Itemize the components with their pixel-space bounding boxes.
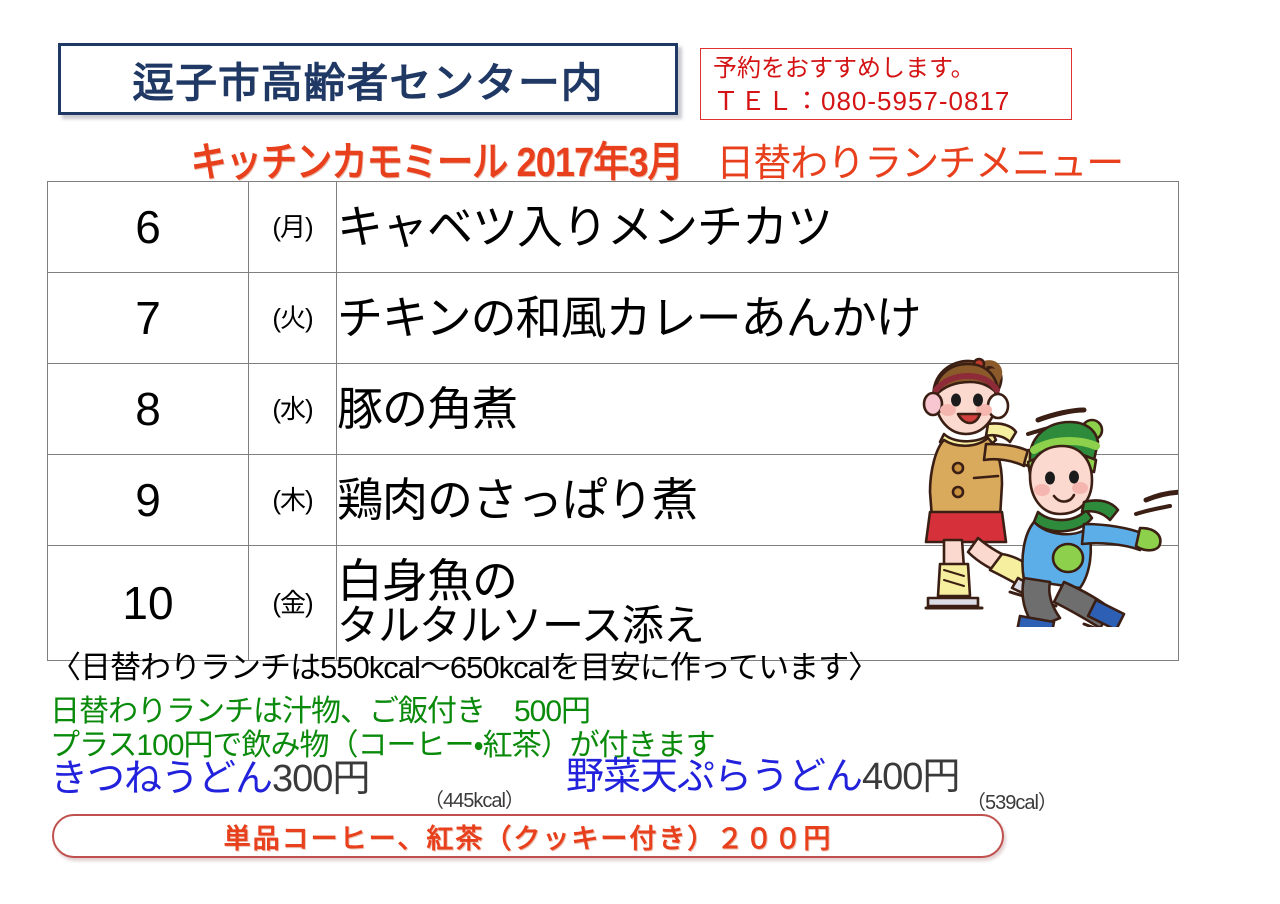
table-row: 8 (水) 豚の角煮 [48, 364, 1179, 455]
cell-day: 10 [48, 546, 249, 661]
reservation-recommend-text: 予約をおすすめします。 [713, 53, 1061, 85]
udon-kitsune-price: 300円 [272, 758, 369, 800]
table-row: 6 (月) キャベツ入りメンチカツ [48, 182, 1179, 273]
cell-dish: 白身魚のタルタルソース添え [337, 546, 1179, 661]
table-row: 7 (火) チキンの和風カレーあんかけ [48, 273, 1179, 364]
reservation-box: 予約をおすすめします。 ＴＥＬ：080-5957-0817 [700, 48, 1072, 120]
note-set-price: 日替わりランチは汁物、ご飯付き 500円 [50, 697, 590, 727]
coffee-offer-box: 単品コーヒー、紅茶（クッキー付き）２００円 [52, 814, 1004, 858]
udon-yasaitempura-calories: （539cal） [966, 786, 1057, 815]
coffee-offer-text: 単品コーヒー、紅茶（クッキー付き）２００円 [224, 817, 833, 856]
table-row: 10 (金) 白身魚のタルタルソース添え [48, 546, 1179, 661]
udon-yasaitempura-price: 400円 [862, 756, 959, 798]
cell-day: 7 [48, 273, 249, 364]
headline-menu-label: 日替わりランチメニュー [716, 132, 1123, 187]
cell-dayofweek: (木) [249, 455, 337, 546]
udon-yasaitempura: 野菜天ぷらうどん400円 [566, 758, 959, 796]
cell-dayofweek: (金) [249, 546, 337, 661]
daily-lunch-table: 6 (月) キャベツ入りメンチカツ 7 (火) チキンの和風カレーあんかけ 8 … [47, 181, 1179, 661]
cell-dayofweek: (火) [249, 273, 337, 364]
note-calorie-range: 〈日替わりランチは550kcal〜650kcalを目安に作っています〉 [50, 652, 878, 683]
cell-dish: チキンの和風カレーあんかけ [337, 273, 1179, 364]
cell-day: 6 [48, 182, 249, 273]
udon-kitsune-calories: （445kcal） [424, 784, 524, 813]
cell-dish-line2: タルタルソース添え [337, 604, 1178, 649]
cell-day: 8 [48, 364, 249, 455]
udon-kitsune-name: きつねうどん [50, 758, 272, 800]
udon-kitsune: きつねうどん300円 [50, 760, 369, 798]
cell-dayofweek: (水) [249, 364, 337, 455]
venue-title: 逗子市高齢者センター内 [132, 49, 603, 109]
cell-dish-line1: 白身魚の [337, 555, 517, 607]
cell-day: 9 [48, 455, 249, 546]
menu-headline: キッチンカモミール 2017年3月日替わりランチメニュー [0, 128, 1280, 188]
cell-dish: キャベツ入りメンチカツ [337, 182, 1179, 273]
venue-title-box: 逗子市高齢者センター内 [58, 43, 678, 115]
cell-dish: 鶏肉のさっぱり煮 [337, 455, 1179, 546]
headline-shop-month: キッチンカモミール 2017年3月 [190, 128, 682, 188]
menu-page: 逗子市高齢者センター内 予約をおすすめします。 ＴＥＬ：080-5957-081… [0, 0, 1280, 904]
cell-dish: 豚の角煮 [337, 364, 1179, 455]
table-row: 9 (木) 鶏肉のさっぱり煮 [48, 455, 1179, 546]
udon-yasaitempura-name: 野菜天ぷらうどん [566, 756, 862, 798]
cell-dayofweek: (月) [249, 182, 337, 273]
reservation-telephone: ＴＥＬ：080-5957-0817 [713, 85, 1061, 117]
